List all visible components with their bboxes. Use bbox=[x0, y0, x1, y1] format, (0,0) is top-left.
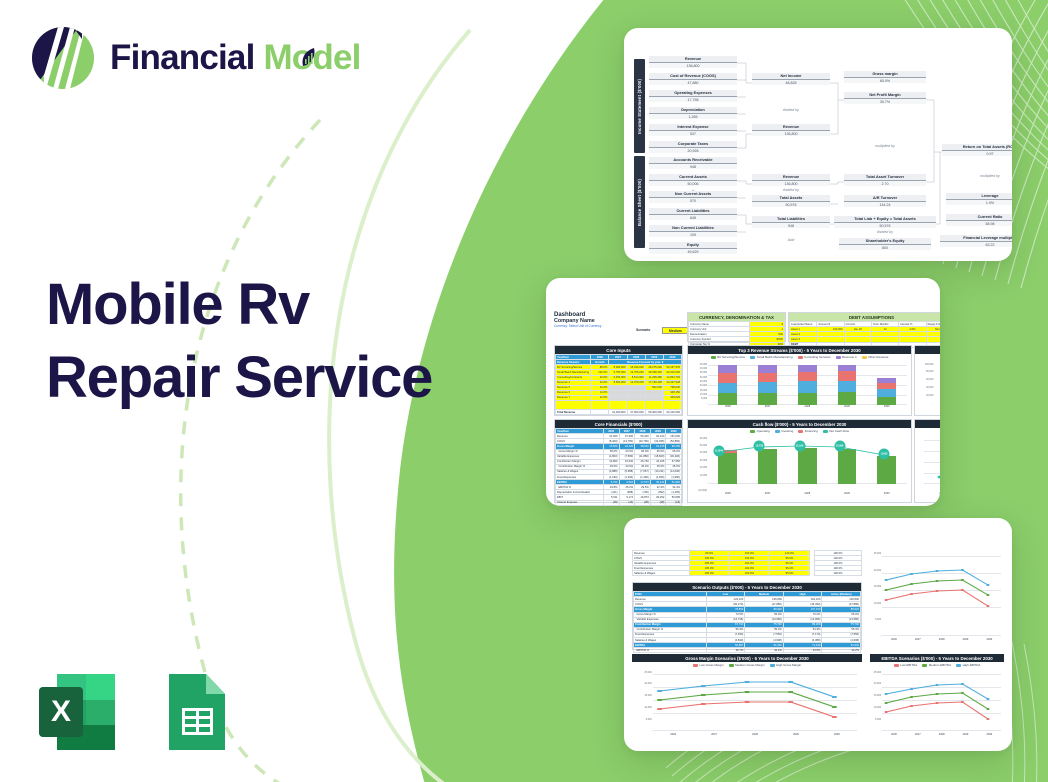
sensitivity-table: Revenue80.0%100.0%120.0% COGS105.0%100.0… bbox=[632, 550, 810, 576]
node-leverage: Leverage 1.9% bbox=[946, 193, 1012, 205]
data-label-bubble: 8,1044 bbox=[714, 446, 725, 457]
node-non-current-assets: Non Current Assets 570 bbox=[649, 191, 737, 203]
node-non-current-liabilities: Non Current Liabilities 109 bbox=[649, 225, 737, 237]
ebitda-scenario-lines bbox=[870, 669, 1004, 741]
brand-lockup: Financial Model bbox=[30, 25, 361, 91]
panel-debt-assumptions: DEBT ASSUMPTIONS Loan/Grant NameAmount $… bbox=[788, 312, 940, 342]
panel-core-financials: Core Financials ($'000) Year/Item2026202… bbox=[554, 419, 683, 503]
chart-profitability: 100,00080,00060,00040,00020,000- bbox=[915, 361, 940, 413]
core-financials-table: Year/Item20262027202820292030 Revenue24,… bbox=[555, 428, 682, 506]
node-ar-turnover: A/R Turnover 144.24 bbox=[844, 195, 926, 207]
core-inputs-table: Year/Item20262027202820292030 Revenue St… bbox=[555, 354, 682, 415]
node-current-liabilities: Current Liabilities 848 bbox=[649, 208, 737, 220]
node-total-liabilities: Total Liabilities 948 bbox=[752, 216, 830, 228]
data-label-bubble: 10,730 bbox=[754, 441, 765, 452]
node-gross-margin: Gross margin 65.0% bbox=[844, 71, 926, 83]
chart-revenue-scenarios: 25,00020,00015,00010,0005,000- bbox=[870, 550, 1004, 646]
active-scenario-grid: 100.0%100.0% 100.0%100.0%100.0% bbox=[814, 550, 862, 576]
leaf-bars-accent-icon bbox=[301, 47, 316, 67]
scenario-label: Scenario bbox=[636, 328, 650, 332]
node-revenue: Revenue 136,800 bbox=[649, 56, 737, 68]
panel-core-inputs: Core Inputs Year/Item2026202720282029203… bbox=[554, 345, 683, 416]
panel-currency-denomination-tax: CURRENCY, DENOMINATION & TAX Currency Na… bbox=[687, 312, 786, 342]
dashboard-card[interactable]: Dashboard Company Name Currency: Select … bbox=[546, 278, 940, 506]
scenario-value-select[interactable]: Medium bbox=[662, 327, 689, 334]
circle-bar-chart-logo-icon bbox=[30, 25, 96, 91]
panel-investment-payback: Investment Payback Chart ($'000) - 5 Yea… bbox=[914, 419, 940, 503]
scenario-analysis-card[interactable]: Revenue80.0%100.0%120.0% COGS105.0%100.0… bbox=[624, 518, 1012, 751]
node-equity: Equity 49,629 bbox=[649, 242, 737, 254]
node-total-liab-equity: Total Liab + Equity = Total Assets 50,57… bbox=[834, 216, 936, 228]
panel-gross-margin-scenarios: Gross Margin Scenarios ($'000) - 5 Years… bbox=[632, 654, 862, 746]
cumulative-investment-line bbox=[915, 435, 940, 500]
dashboard-body: Dashboard Company Name Currency: Select … bbox=[554, 312, 932, 484]
dupont-analysis-card[interactable]: Income Statement ($'000) Balance Sheet (… bbox=[624, 28, 1012, 261]
brand-text: Financial Model bbox=[110, 38, 361, 78]
node-operating-expenses: Operating Expenses 17,758 bbox=[649, 90, 737, 102]
brand-word-financial: Financial bbox=[110, 38, 255, 77]
sensitivity-grid: Revenue80.0%100.0%120.0% COGS105.0%100.0… bbox=[632, 550, 810, 576]
revenue-scenario-lines bbox=[870, 550, 1004, 646]
node-accounts-receivable: Accounts Receivable 948 bbox=[649, 157, 737, 169]
node-current-assets: Current Assets 50,006 bbox=[649, 174, 737, 186]
node-interest-expense: Interest Expense 537 bbox=[649, 124, 737, 136]
data-label-bubble: 12,160 bbox=[794, 440, 805, 451]
chart-investment-payback: 75,00070,00060,00050,00040,000 30,00020,… bbox=[915, 435, 940, 500]
dashboard-heading-block: Dashboard Company Name Currency: Select … bbox=[554, 312, 601, 328]
node-financial-leverage-multiplier: Financial Leverage multiplier 63.22 bbox=[940, 235, 1012, 247]
data-label-bubble: 13,096 bbox=[834, 441, 845, 452]
scenario-body: Revenue80.0%100.0%120.0% COGS105.0%100.0… bbox=[632, 550, 1004, 735]
dashboard-note: Currency: Select Unit of Currency bbox=[554, 324, 601, 328]
google-sheets-icon[interactable] bbox=[149, 668, 237, 756]
node-net-profit-margin: Net Profit Margin 35.7% bbox=[844, 92, 926, 104]
chart-ebitda-scenarios: 25,00020,00015,00010,0005,000- bbox=[870, 669, 1004, 741]
chart-cash-flow: 60,00050,00040,00030,00020,00010,000-(10… bbox=[688, 435, 911, 500]
node-depreciation: Depreciation 1,265 bbox=[649, 107, 737, 119]
panel-ebitda-scenarios: EBITDA Scenarios ($'000) - 5 Years to De… bbox=[870, 654, 1004, 746]
gross-margin-scenario-lines bbox=[632, 669, 862, 741]
node-revenue-denominator: Revenue 136,800 bbox=[752, 124, 830, 136]
currency-table: Currency Name$ Currency Unit1 Denominati… bbox=[688, 321, 785, 347]
svg-text:X: X bbox=[51, 695, 71, 728]
chart-top-revenue-streams: 45,00040,00035,00030,000 25,00020,00015,… bbox=[688, 361, 911, 413]
node-net-income: Net Income 48,828 bbox=[752, 73, 830, 85]
file-format-icons: X bbox=[33, 668, 237, 756]
node-revenue-asset-turnover: Revenue 136,800 bbox=[752, 174, 830, 186]
node-shareholders-equity: Shareholder's Equity 800 bbox=[839, 238, 931, 250]
node-current-ratio: Current Ratio 58.98 bbox=[946, 214, 1012, 226]
debt-table: Loan/Grant NameAmount $CommitTerm Months… bbox=[789, 321, 940, 347]
data-label-bubble: 8,933 bbox=[879, 449, 890, 460]
node-total-asset-turnover: Total Asset Turnover 2.70 bbox=[844, 174, 926, 186]
panel-cash-flow: Cash flow ($'000) - 5 Years to December … bbox=[687, 419, 912, 503]
scenario-outputs-table: $'000LowMediumHighActive (Medium) Revenu… bbox=[633, 591, 861, 653]
node-total-assets: Total Assets 50,576 bbox=[752, 195, 830, 207]
chart-gross-margin-scenarios: 25,00020,00015,00010,0005,000- bbox=[632, 669, 862, 741]
panel-top-revenue-streams: Top 3 Revenue Streams ($'000) - 5 Years … bbox=[687, 345, 912, 416]
excel-icon[interactable]: X bbox=[33, 668, 121, 756]
panel-revenue-scenarios: 25,00020,00015,00010,0005,000- bbox=[870, 550, 1004, 646]
node-return-on-total-assets: Return on Total Assets (ROA) 0.97 bbox=[942, 144, 1012, 156]
slide-canvas: Financial Model Mobile Rv Repair Service bbox=[0, 0, 1048, 782]
page-title: Mobile Rv Repair Service bbox=[46, 268, 446, 414]
left-content-column: Financial Model Mobile Rv Repair Service bbox=[0, 0, 470, 782]
node-cogs: Cost of Revenue (COGS) 47,880 bbox=[649, 73, 737, 85]
panel-scenario-outputs: Scenario Outputs ($'000) - 5 Years to De… bbox=[632, 582, 862, 650]
dupont-tree: Income Statement ($'000) Balance Sheet (… bbox=[634, 56, 1006, 243]
spine-income-statement: Income Statement ($'000) bbox=[634, 59, 645, 153]
panel-profitability: Profitability ($'000) - 5 Years to Decem… bbox=[914, 345, 940, 416]
spine-balance-sheet: Balance Sheet ($'000) bbox=[634, 156, 645, 248]
node-corporate-taxes: Corporate Taxes 20,926 bbox=[649, 141, 737, 153]
active-scenario-table: 100.0%100.0% 100.0%100.0%100.0% bbox=[814, 550, 862, 576]
